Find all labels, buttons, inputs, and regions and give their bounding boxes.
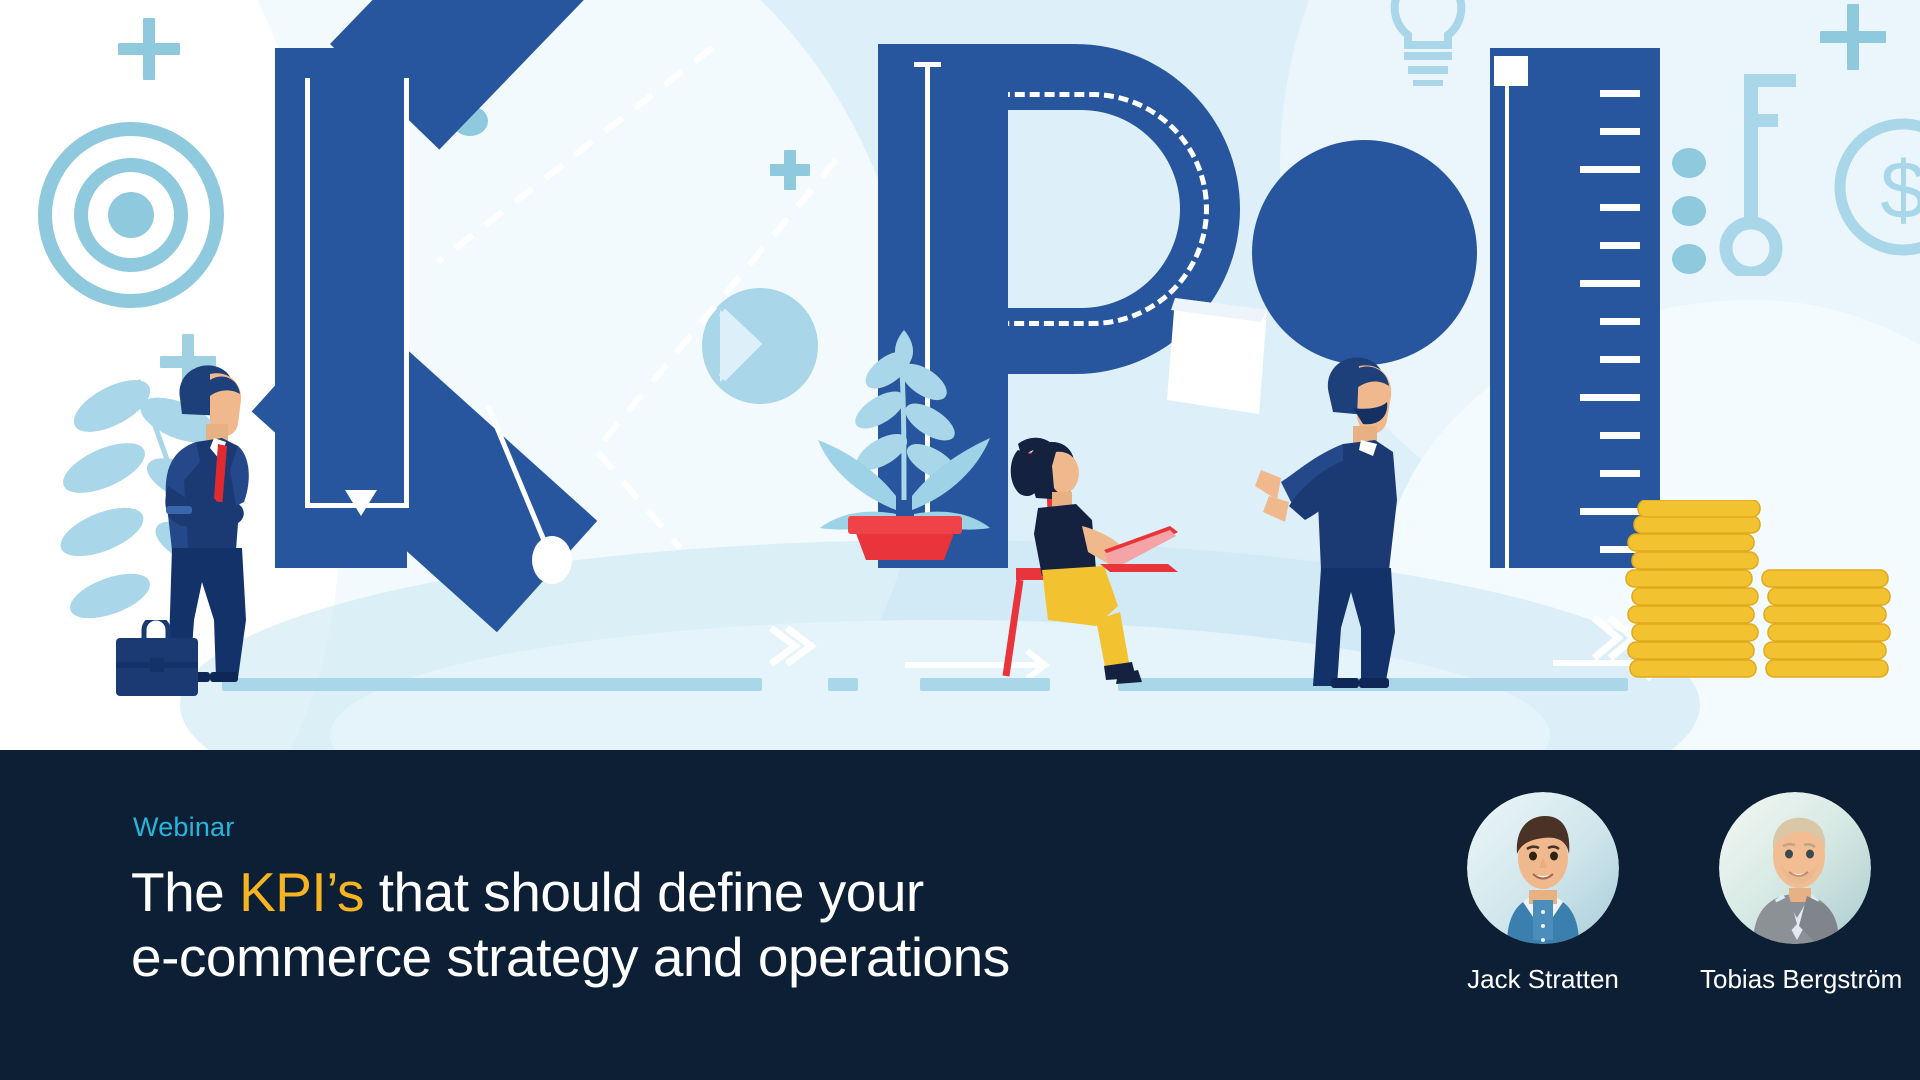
ruler-slider-knob [1494, 56, 1528, 86]
page-title: The KPI’s that should define your e-comm… [131, 860, 1010, 990]
briefcase-icon [110, 620, 205, 700]
speaker-name: Jack Stratten [1448, 964, 1638, 995]
woman-with-laptop-on-chair [1000, 430, 1220, 685]
svg-text:$: $ [1880, 145, 1920, 236]
plus-icon [1820, 4, 1886, 70]
letter-i-body [1490, 48, 1660, 568]
title-part-pre: The [131, 861, 239, 923]
ruler-tick [1600, 432, 1640, 439]
page-title-line-1: The KPI’s that should define your [131, 860, 1010, 925]
ruler-tick [1580, 280, 1640, 287]
chevrons-icon [765, 620, 825, 690]
title-part-post: that should define your [364, 861, 924, 923]
speaker-name: Tobias Bergström [1700, 964, 1890, 995]
speaker-card: Jack Stratten [1448, 792, 1638, 995]
document-icon [1163, 292, 1273, 422]
floor-bar [828, 678, 858, 691]
dollar-coin-icon: $ [1828, 112, 1920, 262]
ruler-tick [1600, 128, 1640, 135]
businessman-holding-document [1255, 320, 1455, 690]
key-icon [1700, 66, 1810, 276]
avatar [1467, 792, 1619, 944]
potted-plant-icon [800, 300, 1010, 560]
eyebrow-label: Webinar [133, 812, 234, 843]
ruler-tick [1600, 318, 1640, 325]
footer-bar: Webinar The KPI’s that should define you… [0, 750, 1920, 1080]
floor-bar [222, 678, 762, 691]
ruler-slider-line [1505, 70, 1509, 570]
speaker-card: Tobias Bergström [1700, 792, 1890, 995]
ruler-tick [1600, 90, 1640, 97]
webinar-banner: $ [0, 0, 1920, 1080]
page-title-line-2: e-commerce strategy and operations [131, 925, 1010, 990]
speaker-list: Jack Stratten [1448, 792, 1890, 995]
coin-stack-icon [1618, 500, 1908, 690]
ruler-tick [1580, 394, 1640, 401]
ruler-tick [1600, 470, 1640, 477]
ruler-tick [1600, 242, 1640, 249]
hero-illustration: $ [0, 0, 1920, 750]
ruler-tick [1600, 356, 1640, 363]
ruler-tick [1600, 204, 1640, 211]
title-accent-kpi: KPI’s [239, 861, 364, 923]
avatar [1719, 792, 1871, 944]
ruler-tick [1580, 166, 1640, 173]
